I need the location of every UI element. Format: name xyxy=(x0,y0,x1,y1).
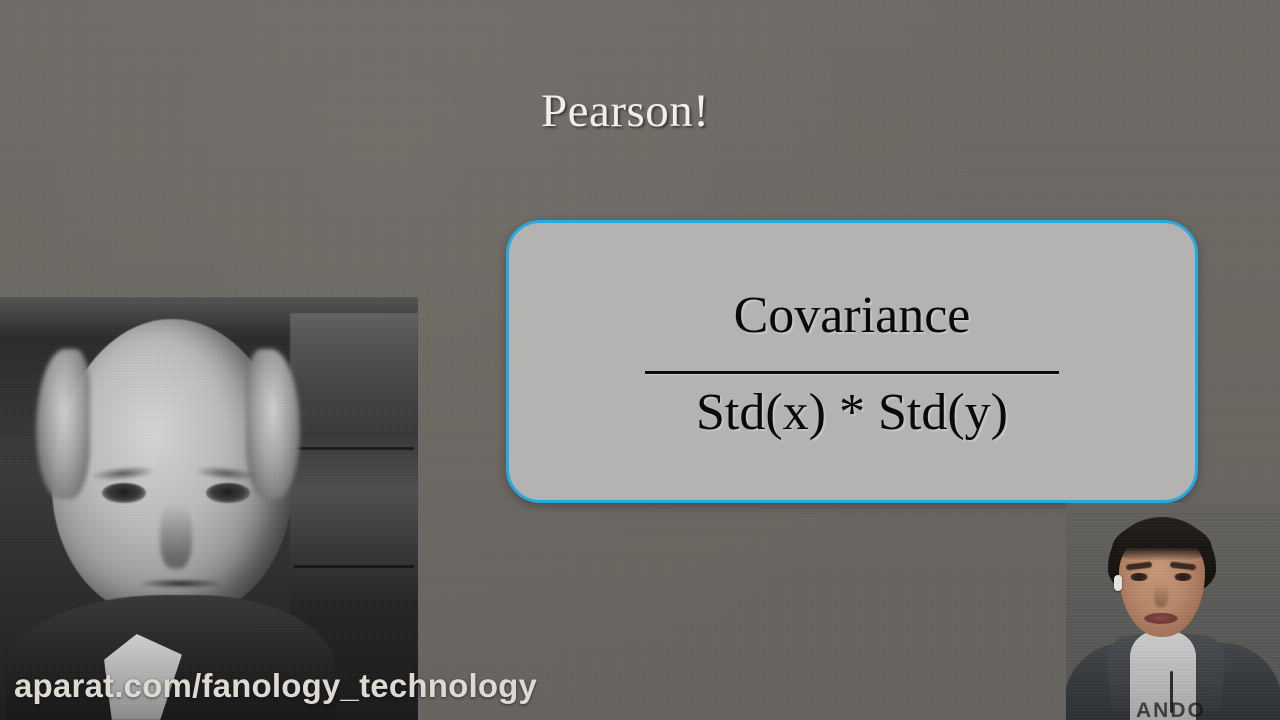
portrait-mouth xyxy=(142,579,220,588)
portrait-eye-right xyxy=(206,483,250,503)
presenter-webcam[interactable]: ANDO Presenter webcam overlay xyxy=(1066,503,1280,720)
fraction-bar-divider xyxy=(645,371,1059,374)
presenter-video-grain xyxy=(1066,503,1280,720)
page-title: Pearson! xyxy=(541,88,709,135)
portrait-shelf-line xyxy=(294,447,414,450)
portrait-nose xyxy=(160,503,192,569)
slide-screen: Pearson! Covariance Std(x) * Std(y) Blac… xyxy=(0,0,1280,720)
portrait-eye-left xyxy=(102,483,146,503)
portrait-photo: Black and white portrait photograph of K… xyxy=(0,297,418,720)
portrait-shelf-line xyxy=(294,565,414,568)
watermark-text: aparat.com/fanology_technology xyxy=(14,669,537,702)
formula-card: Covariance Std(x) * Std(y) xyxy=(506,220,1198,503)
formula-numerator: Covariance xyxy=(734,290,971,342)
formula-denominator: Std(x) * Std(y) xyxy=(696,387,1008,439)
portrait-hair-left xyxy=(36,349,90,499)
